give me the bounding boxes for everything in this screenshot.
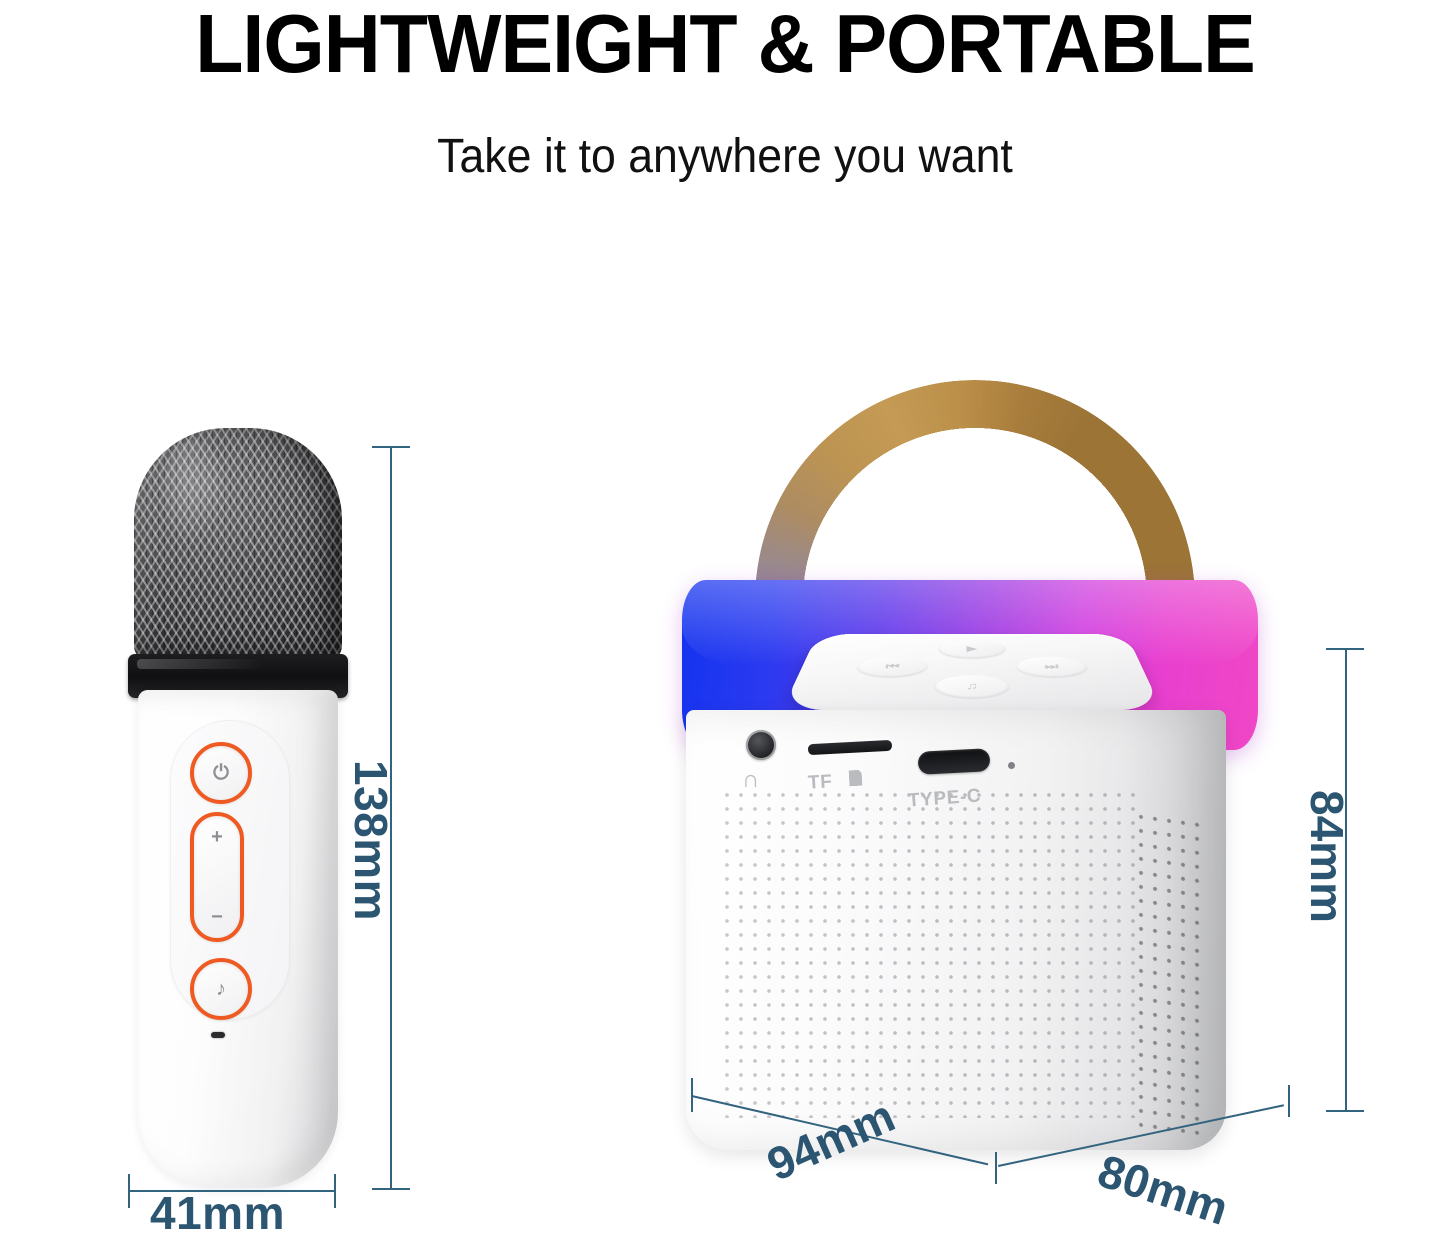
mode-icon: ♫ bbox=[966, 681, 978, 692]
mic-height-tick-bottom bbox=[372, 1188, 410, 1190]
headphone-icon: ∩ bbox=[742, 766, 760, 794]
microphone-product-image: ⏻ + − ♪ bbox=[112, 428, 362, 1188]
charging-indicator-dot bbox=[1008, 762, 1015, 769]
tf-label: TF bbox=[807, 771, 833, 794]
page-title: LIGHTWEIGHT & PORTABLE bbox=[36, 0, 1414, 90]
mic-width-tick-right bbox=[334, 1174, 336, 1208]
speaker-width-tick-center bbox=[995, 1152, 997, 1184]
music-note-icon: ♪ bbox=[216, 979, 226, 999]
microphone-mesh-grille bbox=[134, 428, 342, 660]
power-button[interactable]: ⏻ bbox=[190, 742, 252, 804]
volume-up-icon: + bbox=[211, 827, 223, 847]
tf-card-slot bbox=[808, 740, 892, 755]
mic-width-tick-left bbox=[128, 1174, 130, 1208]
mic-height-tick-top bbox=[372, 446, 410, 448]
speaker-height-label: 84mm bbox=[1300, 790, 1354, 923]
headphone-jack bbox=[746, 730, 776, 760]
speaker-width-tick-left bbox=[691, 1078, 693, 1112]
mic-height-label: 138mm bbox=[344, 760, 398, 921]
speaker-side-shading bbox=[1122, 710, 1226, 1150]
volume-down-icon: − bbox=[211, 907, 223, 927]
volume-button[interactable]: + − bbox=[190, 812, 244, 942]
next-icon: ⏭ bbox=[1044, 662, 1060, 672]
previous-icon: ⏮ bbox=[884, 662, 900, 672]
previous-track-button[interactable]: ⏮ bbox=[854, 657, 928, 678]
indicator-led-icon bbox=[211, 1032, 225, 1038]
speaker-body: ∩ TF TYPE-C bbox=[686, 710, 1226, 1150]
play-icon: ▶ bbox=[966, 644, 977, 653]
play-pause-button[interactable]: ▶ bbox=[938, 640, 1006, 659]
page-subtitle: Take it to anywhere you want bbox=[51, 128, 1400, 186]
speaker-depth-tick-right bbox=[1288, 1085, 1290, 1117]
speaker-top-control-panel: ▶ ⏮ ⏭ ♫ bbox=[782, 634, 1162, 710]
speaker-grille-perforations bbox=[720, 788, 1140, 1118]
power-icon: ⏻ bbox=[213, 763, 229, 783]
tf-card-icon bbox=[849, 770, 863, 787]
effect-button[interactable]: ♪ bbox=[190, 958, 252, 1020]
speaker-height-tick-top bbox=[1326, 648, 1364, 650]
usb-type-c-port bbox=[917, 748, 990, 775]
next-track-button[interactable]: ⏭ bbox=[1015, 657, 1089, 678]
mic-width-label: 41mm bbox=[150, 1186, 285, 1240]
speaker-height-tick-bottom bbox=[1326, 1110, 1364, 1112]
mode-button[interactable]: ♫ bbox=[934, 675, 1010, 698]
speaker-product-image: ▶ ⏮ ⏭ ♫ ∩ TF TYPE-C bbox=[660, 380, 1280, 1170]
